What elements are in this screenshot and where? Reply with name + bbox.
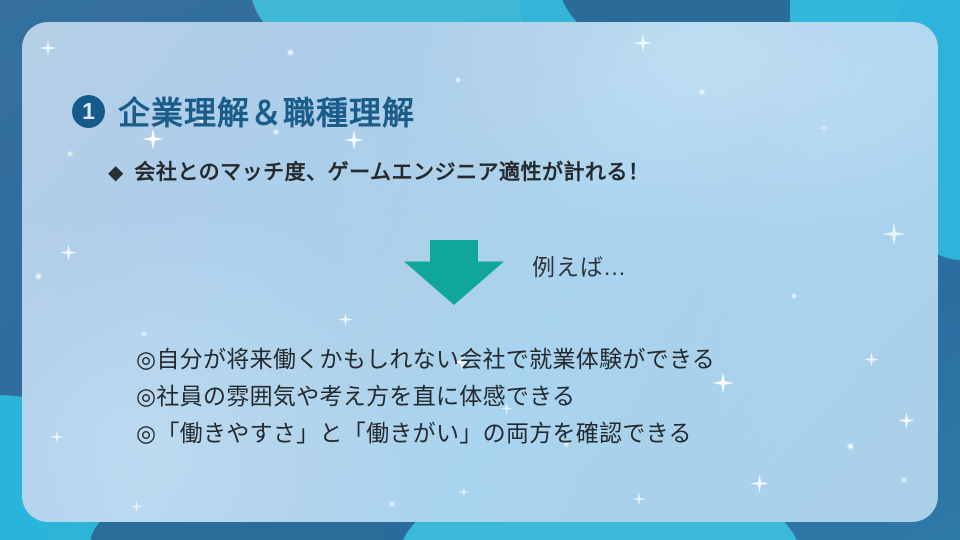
page-title: 1 企業理解＆職種理解 <box>72 88 415 134</box>
subtitle-text: 会社とのマッチ度、ゲームエンジニア適性が計れる！ <box>134 156 649 186</box>
subtitle: ◆ 会社とのマッチ度、ゲームエンジニア適性が計れる！ <box>108 156 650 186</box>
example-label: 例えば... <box>532 248 626 282</box>
list-item: ◎「働きやすさ」と「働きがい」の両方を確認できる <box>136 422 715 445</box>
list-item: ◎社員の雰囲気や考え方を直に体感できる <box>136 385 715 408</box>
benefit-list: ◎自分が将来働くかもしれない会社で就業体験ができる ◎社員の雰囲気や考え方を直に… <box>136 348 715 459</box>
step-number-badge: 1 <box>72 95 105 128</box>
down-arrow-icon <box>404 240 504 305</box>
slide-content: 1 企業理解＆職種理解 ◆ 会社とのマッチ度、ゲームエンジニア適性が計れる！ 例… <box>0 0 960 540</box>
list-item: ◎自分が将来働くかもしれない会社で就業体験ができる <box>136 348 715 371</box>
slide-canvas: 1 企業理解＆職種理解 ◆ 会社とのマッチ度、ゲームエンジニア適性が計れる！ 例… <box>0 0 960 540</box>
diamond-bullet-icon: ◆ <box>108 160 123 185</box>
page-title-text: 企業理解＆職種理解 <box>118 88 415 134</box>
example-callout: 例えば... <box>404 240 626 305</box>
